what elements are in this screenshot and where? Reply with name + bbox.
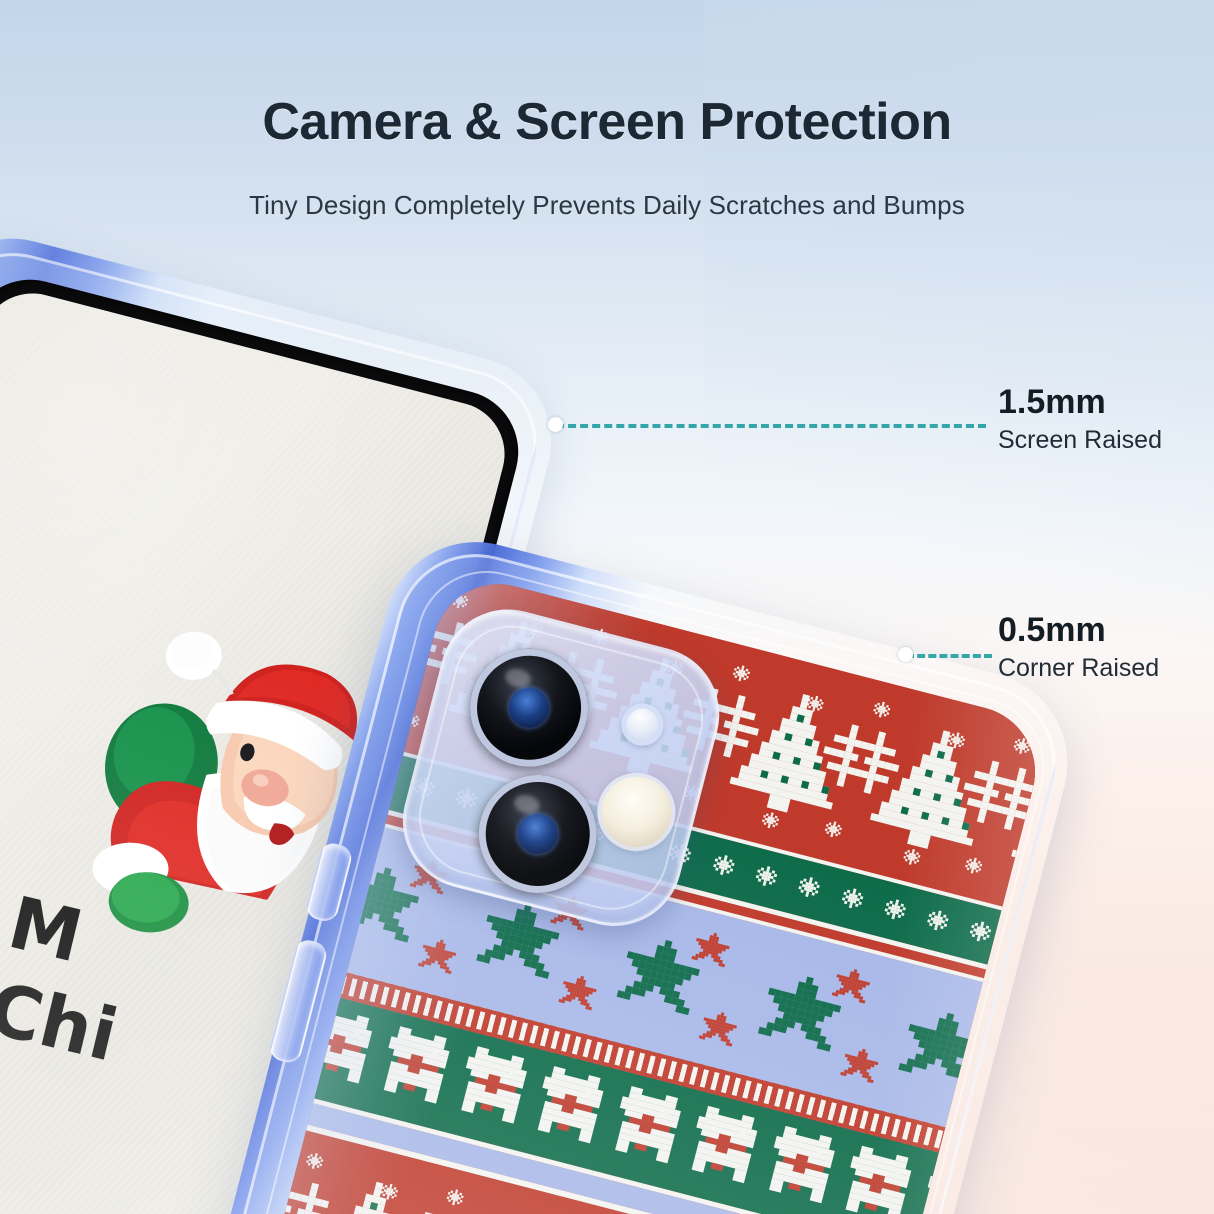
page-subtitle: Tiny Design Completely Prevents Daily Sc… bbox=[0, 190, 1214, 221]
callout-value: 1.5mm bbox=[998, 385, 1162, 421]
leader-endpoint-corner bbox=[898, 647, 913, 662]
callout-caption: Corner Raised bbox=[998, 653, 1159, 684]
leader-endpoint-screen bbox=[548, 417, 563, 432]
callout-caption: Screen Raised bbox=[998, 425, 1162, 456]
lens-iris bbox=[513, 810, 562, 859]
callout-value: 0.5mm bbox=[998, 613, 1159, 649]
product-feature-image: M Chi bbox=[0, 0, 1214, 1214]
leader-line-screen-raised bbox=[556, 424, 986, 428]
callout-screen-raised: 1.5mm Screen Raised bbox=[998, 385, 1162, 456]
page-title: Camera & Screen Protection bbox=[0, 92, 1214, 152]
leader-line-corner-raised bbox=[906, 654, 992, 658]
callout-corner-raised: 0.5mm Corner Raised bbox=[998, 613, 1159, 684]
lens-iris bbox=[505, 683, 554, 732]
